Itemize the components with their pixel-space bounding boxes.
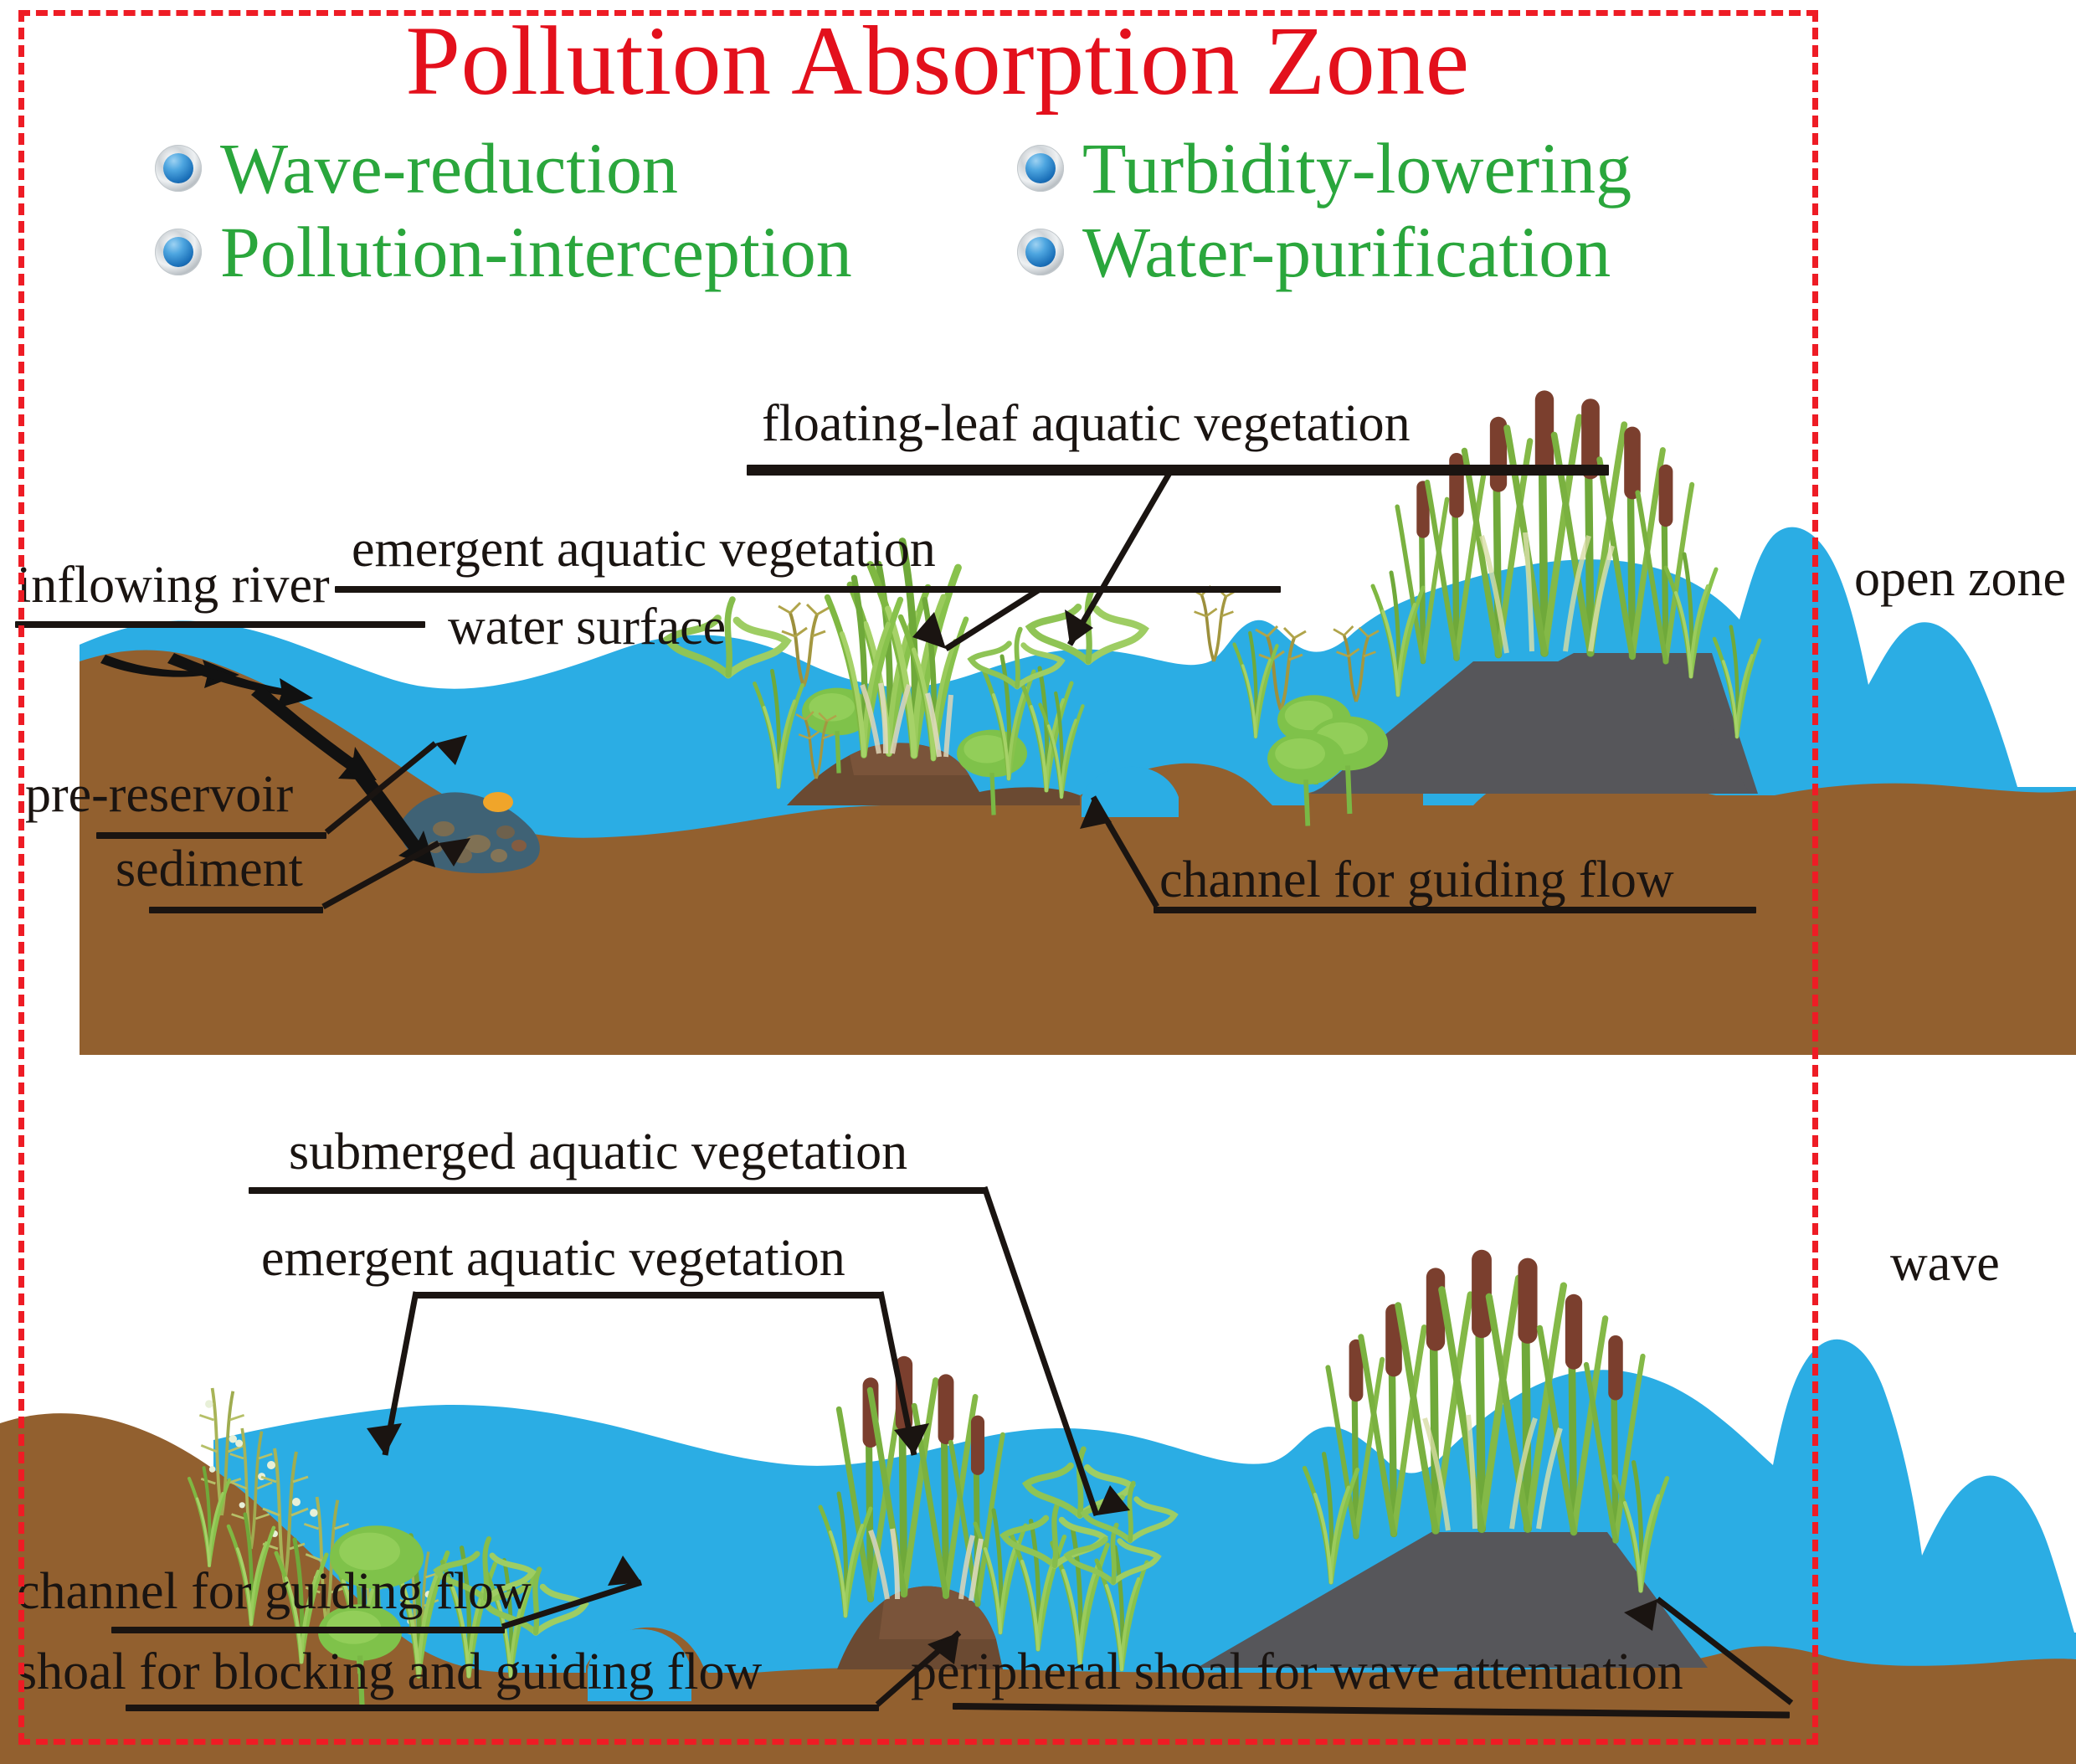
header-block: Pollution Absorption Zone Wave-reduction… xyxy=(0,0,1875,288)
label-shoal-for-blocking-and-guiding-flow: shoal for blocking and guiding flow xyxy=(17,1646,762,1698)
label-emergent-aquatic-vegetation-top: emergent aquatic vegetation xyxy=(352,523,936,575)
feature-item-turbidity-lowering: Turbidity-lowering xyxy=(1017,132,1737,204)
label-inflowing-river: inflowing river xyxy=(17,559,330,611)
label-floating-leaf-aquatic-vegetation: floating-leaf aquatic vegetation xyxy=(762,398,1411,450)
feature-label: Turbidity-lowering xyxy=(1082,132,1632,204)
underline-sediment xyxy=(149,907,323,913)
underline-emergent-top xyxy=(335,586,1281,593)
underline-inflowing-river xyxy=(15,621,425,628)
feature-list: Wave-reduction Turbidity-lowering Pollut… xyxy=(0,132,1875,288)
blue-orb-bullet-icon xyxy=(155,145,202,192)
underline-floating-leaf xyxy=(747,465,1609,476)
blue-orb-bullet-icon xyxy=(155,229,202,275)
label-emergent-aquatic-vegetation-bottom: emergent aquatic vegetation xyxy=(261,1232,845,1284)
label-open-zone: open zone xyxy=(1854,553,2066,604)
underline-channel-flow-bottom xyxy=(111,1627,505,1633)
page-title: Pollution Absorption Zone xyxy=(0,0,1875,111)
blue-orb-bullet-icon xyxy=(1017,229,1064,275)
underline-submerged xyxy=(249,1187,985,1194)
underline-shoal-blocking xyxy=(126,1705,879,1711)
feature-item-water-purification: Water-purification xyxy=(1017,216,1737,288)
label-submerged-aquatic-vegetation: submerged aquatic vegetation xyxy=(289,1126,907,1178)
label-water-surface: water surface xyxy=(448,601,726,653)
label-channel-for-guiding-flow-top: channel for guiding flow xyxy=(1159,854,1674,906)
label-wave: wave xyxy=(1890,1237,2000,1289)
underline-pre-reservoir xyxy=(96,832,326,839)
blue-orb-bullet-icon xyxy=(1017,145,1064,192)
label-pre-reservoir: pre-reservoir xyxy=(25,769,293,820)
label-peripheral-shoal-for-wave-attenuation: peripheral shoal for wave attenuation xyxy=(911,1646,1683,1698)
feature-item-pollution-interception: Pollution-interception xyxy=(155,216,1017,288)
feature-label: Water-purification xyxy=(1082,216,1611,288)
feature-label: Pollution-interception xyxy=(220,216,852,288)
label-sediment: sediment xyxy=(116,843,303,895)
diagram-canvas: Pollution Absorption Zone Wave-reduction… xyxy=(0,0,2076,1764)
label-channel-for-guiding-flow-bottom: channel for guiding flow xyxy=(17,1566,532,1617)
underline-emergent-bottom xyxy=(414,1292,883,1299)
feature-label: Wave-reduction xyxy=(220,132,678,204)
feature-item-wave-reduction: Wave-reduction xyxy=(155,132,1017,204)
